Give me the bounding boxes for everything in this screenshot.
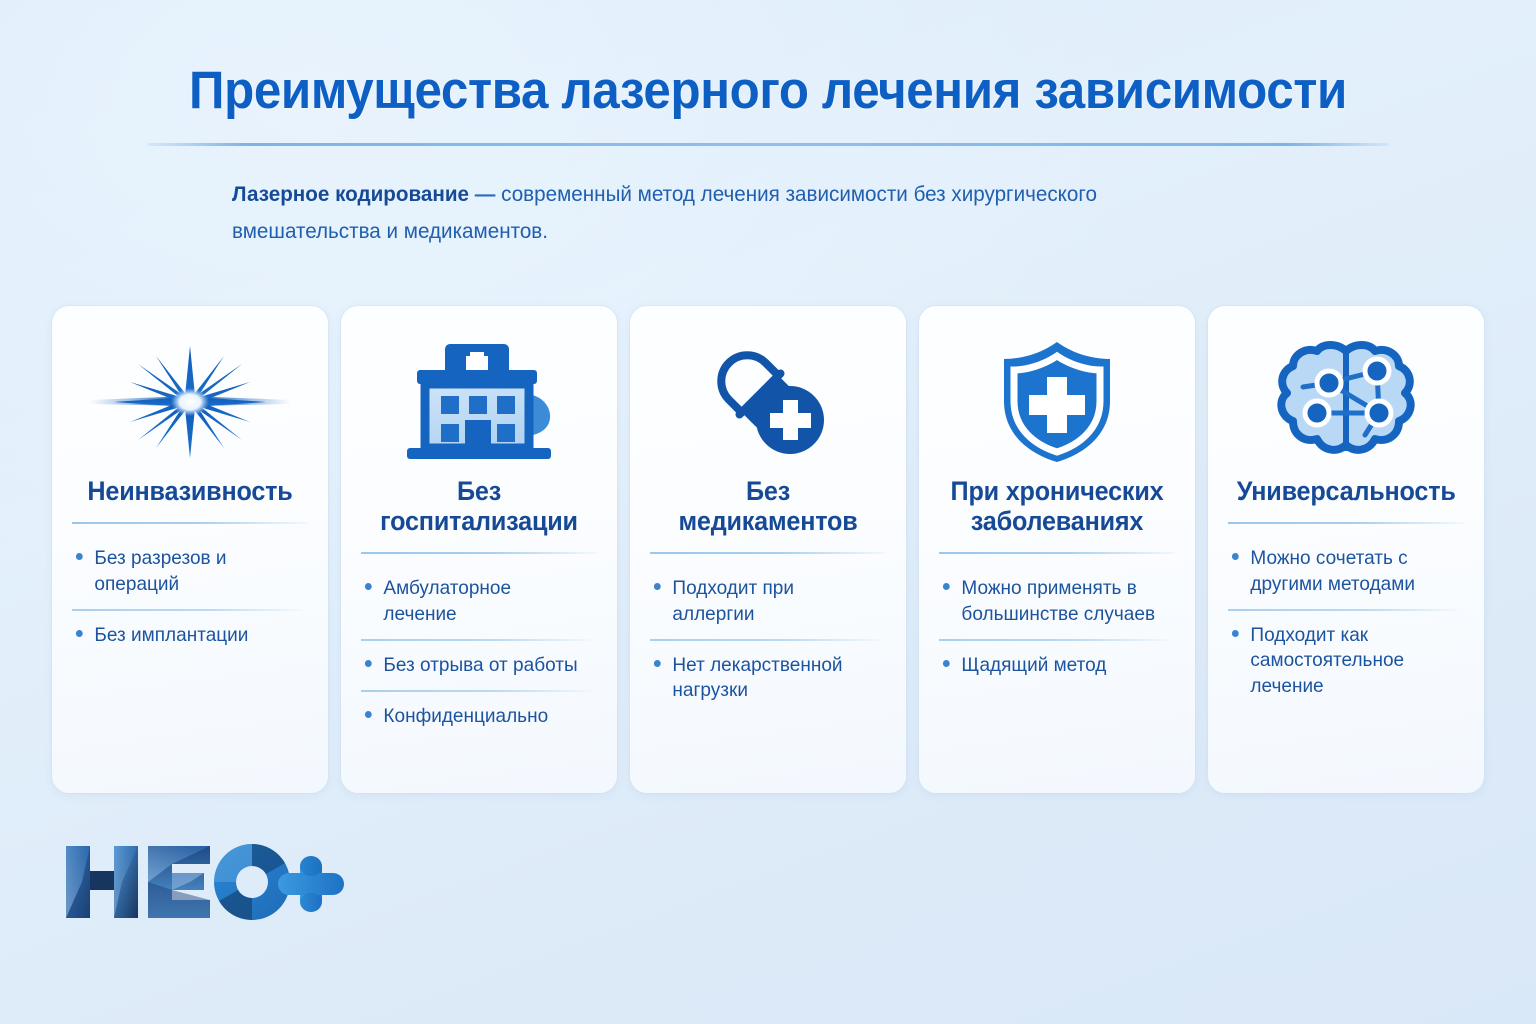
card-title-divider xyxy=(1228,522,1464,524)
list-item: Без отрыва от работы xyxy=(361,639,591,690)
benefit-list: Подходит при аллергии Нет лекарственной … xyxy=(650,564,886,715)
benefit-cards-row: Неинвазивность Без разрезов и операций Б… xyxy=(52,306,1484,793)
title-divider xyxy=(147,143,1389,146)
card-title: При хронических заболеваниях xyxy=(945,476,1169,536)
hospital-building-icon xyxy=(361,336,597,468)
list-item: Щадящий метод xyxy=(939,639,1169,690)
page-title: Преимущества лазерного лечения зависимос… xyxy=(54,64,1482,117)
header: Преимущества лазерного лечения зависимос… xyxy=(0,0,1536,146)
subtitle: Лазерное кодирование — современный метод… xyxy=(232,176,1134,250)
benefit-list: Можно применять в большинстве случаев Ща… xyxy=(939,564,1175,690)
subtitle-dash: — xyxy=(469,182,501,206)
list-item: Подходит как самостоятельное лечение xyxy=(1228,609,1458,711)
benefit-card-no-hospitalization[interactable]: Без госпитализации Амбулаторное лечение … xyxy=(341,306,617,793)
list-item: Нет лекарственной нагрузки xyxy=(650,639,880,716)
benefit-list: Можно сочетать с другими методами Подход… xyxy=(1228,534,1464,711)
card-title-divider xyxy=(939,552,1175,554)
brain-network-icon xyxy=(1228,336,1464,468)
card-title-divider xyxy=(650,552,886,554)
benefit-card-universality[interactable]: Универсальность Можно сочетать с другими… xyxy=(1208,306,1484,793)
card-title: Неинвазивность xyxy=(87,476,292,506)
list-item: Конфиденциально xyxy=(361,690,591,741)
brand-logo[interactable] xyxy=(62,838,342,926)
card-title: Без госпитализации xyxy=(367,476,591,536)
list-item: Подходит при аллергии xyxy=(650,564,880,639)
list-item: Без разрезов и операций xyxy=(72,534,302,609)
card-title-divider xyxy=(361,552,597,554)
list-item: Можно сочетать с другими методами xyxy=(1228,534,1458,609)
laser-burst-icon xyxy=(72,336,308,468)
shield-cross-icon xyxy=(939,336,1175,468)
benefit-card-chronic-conditions[interactable]: При хронических заболеваниях Можно приме… xyxy=(919,306,1195,793)
card-title: Универсальность xyxy=(1237,476,1456,506)
list-item: Амбулаторное лечение xyxy=(361,564,591,639)
subtitle-bold-lead: Лазерное кодирование xyxy=(232,182,469,206)
benefit-list: Амбулаторное лечение Без отрыва от работ… xyxy=(361,564,597,741)
list-item: Без имплантации xyxy=(72,609,302,660)
card-title: Без медикаментов xyxy=(656,476,880,536)
card-title-divider xyxy=(72,522,308,524)
benefit-card-noninvasive[interactable]: Неинвазивность Без разрезов и операций Б… xyxy=(52,306,328,793)
list-item: Можно применять в большинстве случаев xyxy=(939,564,1169,639)
pill-capsule-icon xyxy=(650,336,886,468)
benefit-card-no-medication[interactable]: Без медикаментов Подходит при аллергии Н… xyxy=(630,306,906,793)
benefit-list: Без разрезов и операций Без имплантации xyxy=(72,534,308,660)
